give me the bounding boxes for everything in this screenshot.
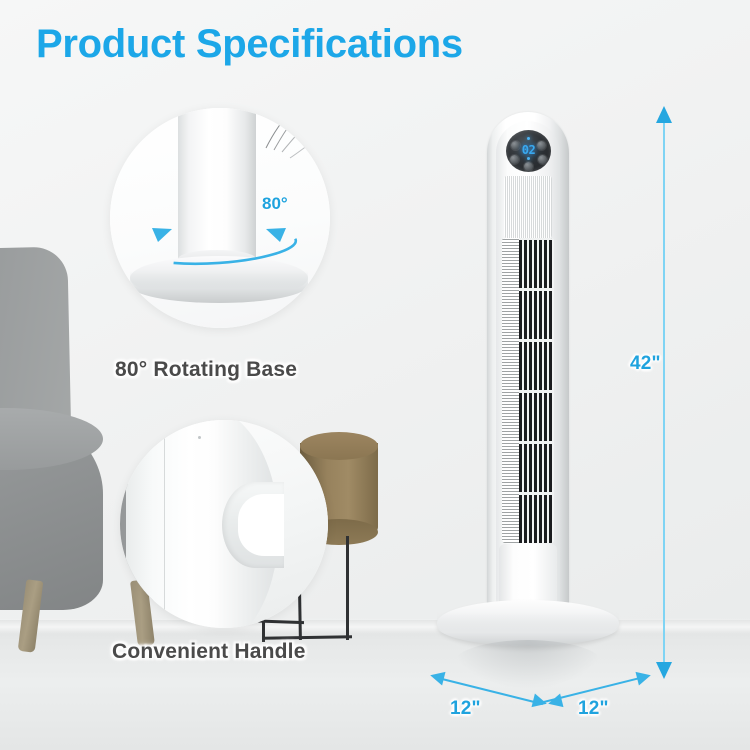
height-dimension-label: 42"	[630, 353, 661, 375]
callout-caption-convenient-handle: Convenient Handle	[112, 640, 306, 664]
fan-panel-dot	[198, 436, 201, 439]
wire-strands-icon	[260, 108, 330, 174]
height-arrow-up-icon	[656, 106, 672, 123]
height-dimension-line	[663, 118, 665, 670]
rotation-angle-badge: 80°	[262, 194, 288, 214]
fan-panel-seam	[164, 420, 165, 628]
fan-upper-grille	[504, 176, 552, 238]
fan-base-reflection	[453, 640, 603, 688]
panel-indicator-dot	[527, 157, 530, 160]
callout-rotating-base: 80°	[110, 108, 330, 328]
callout-caption-rotating-base: 80° Rotating Base	[115, 358, 297, 382]
fan-main-grille	[502, 238, 554, 543]
product-specification-image: 02 42" 12" 12"	[0, 0, 750, 750]
tower-fan-product: 02	[487, 112, 569, 647]
depth-dimension-label: 12"	[578, 698, 609, 720]
fan-grille-mesh	[502, 238, 519, 543]
height-arrow-down-icon	[656, 662, 672, 679]
handle-cutout-inner	[238, 494, 284, 556]
panel-display-value: 02	[506, 143, 551, 157]
floor-horizon-line	[0, 618, 750, 634]
callout-convenient-handle	[120, 420, 328, 628]
side-table-leg	[346, 536, 349, 640]
width-dimension-label: 12"	[450, 698, 481, 720]
fan-grille-ribs	[519, 238, 554, 543]
page-title: Product Specifications	[36, 22, 463, 67]
fan-control-panel[interactable]: 02	[506, 130, 551, 172]
panel-button-mode[interactable]	[524, 162, 533, 171]
panel-indicator-dot	[527, 137, 530, 140]
